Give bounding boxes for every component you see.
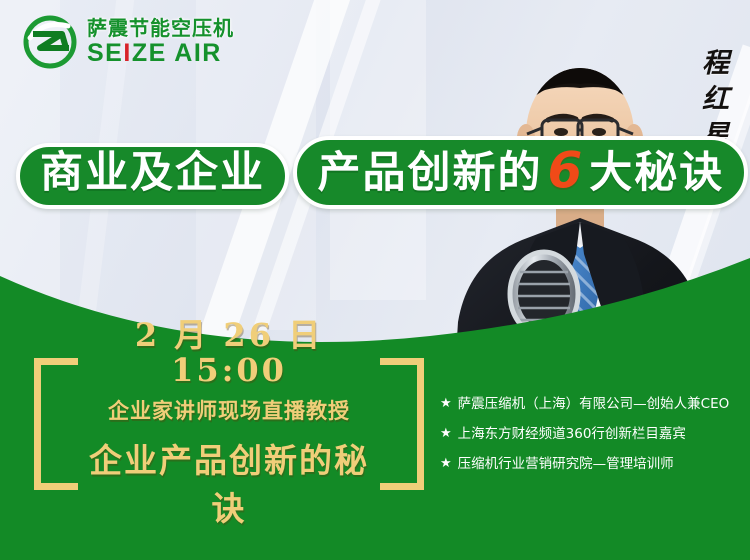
credentials-list: ★ 萨震压缩机（上海）有限公司—创始人兼CEO ★ 上海东方财经频道360行创新… [440,396,740,486]
bracket-right-bottom-arm [380,483,424,490]
credential-text: 上海东方财经频道360行创新栏目嘉宾 [458,426,686,443]
headline-line2-after: 大秘诀 [589,148,724,198]
brand-en-part1: SE [87,39,123,67]
headline-line2-before: 产品创新的 [317,148,542,198]
brand-en-accent: I [123,39,131,67]
list-item: ★ 上海东方财经频道360行创新栏目嘉宾 [440,426,740,443]
bracket-left-decoration [34,358,78,490]
headline-line-2: 产品创新的6大秘诀 [317,144,724,197]
headline-pill-1: 商业及企业 [16,143,289,209]
event-text-lines: 2 月 26 日 15:00 企业家讲师现场直播教授 企业产品创新的秘诀 [78,358,380,490]
bracket-left-bottom-arm [34,483,78,490]
credential-text: 萨震压缩机（上海）有限公司—创始人兼CEO [458,396,730,413]
brand-logo: 萨震节能空压机 SEIZE AIR [22,14,234,70]
headline-pill-2: 产品创新的6大秘诀 [293,136,748,209]
bracket-right-decoration [380,358,424,490]
sz-circle-logo-icon [22,14,78,70]
headline-group: 商业及企业 产品创新的6大秘诀 [16,124,748,209]
star-icon: ★ [440,426,452,443]
bracket-left-stem [34,358,41,490]
list-item: ★ 压缩机行业营销研究院—管理培训师 [440,456,740,473]
event-topic: 企业产品创新的秘诀 [78,434,380,530]
headline-line-1: 商业及企业 [40,151,265,197]
list-item: ★ 萨震压缩机（上海）有限公司—创始人兼CEO [440,396,740,413]
promotional-banner: 萨震节能空压机 SEIZE AIR 程红星 商业及企业 产品创新的6大秘诀 2 … [0,0,750,560]
brand-name-cn: 萨震节能空压机 [87,18,234,38]
star-icon: ★ [440,456,452,473]
credential-text: 压缩机行业营销研究院—管理培训师 [458,456,674,473]
star-icon: ★ [440,396,452,413]
event-subtitle: 企业家讲师现场直播教授 [108,395,350,425]
event-date-block: 2 月 26 日 15:00 企业家讲师现场直播教授 企业产品创新的秘诀 [34,358,424,490]
event-date-time: 2 月 26 日 15:00 [78,318,380,388]
brand-en-part2: ZE AIR [132,39,222,67]
headline-number: 6 [542,144,589,197]
bracket-right-stem [417,358,424,490]
brand-name-en: SEIZE AIR [87,41,234,66]
